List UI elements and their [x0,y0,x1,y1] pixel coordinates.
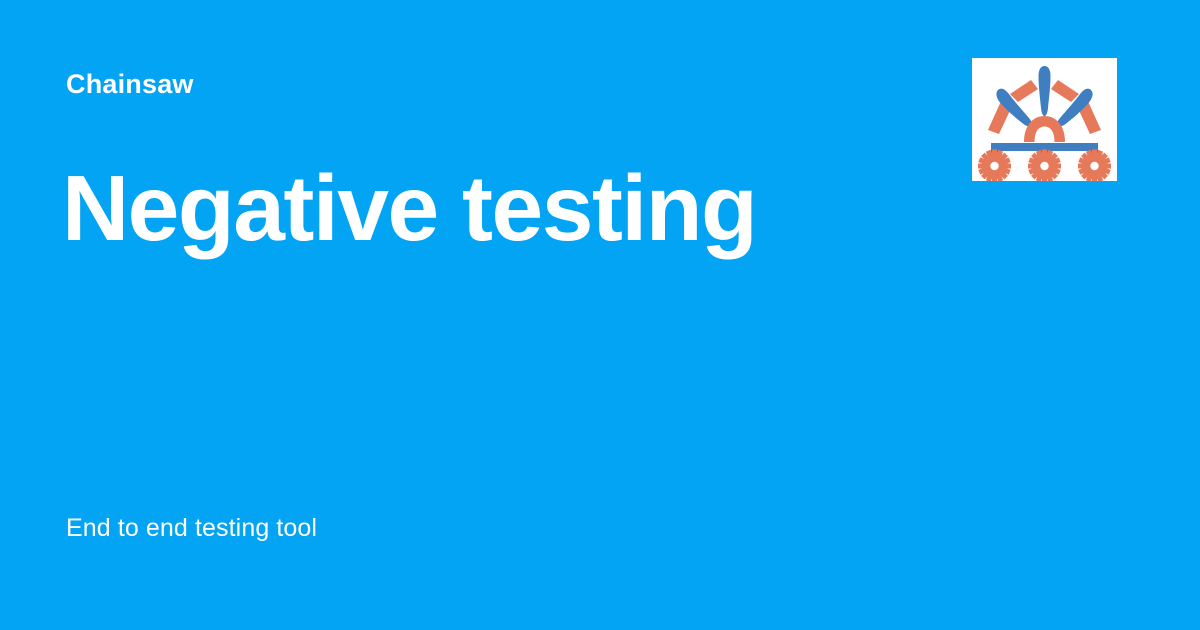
tagline: End to end testing tool [66,513,317,543]
social-preview-card: Chainsaw Negative testing End to end tes… [0,0,1200,630]
logo-container [972,58,1117,181]
logo-gears [978,150,1111,182]
brand-name: Chainsaw [66,70,194,100]
page-title: Negative testing [62,160,756,258]
chainsaw-logo-icon [972,58,1117,181]
